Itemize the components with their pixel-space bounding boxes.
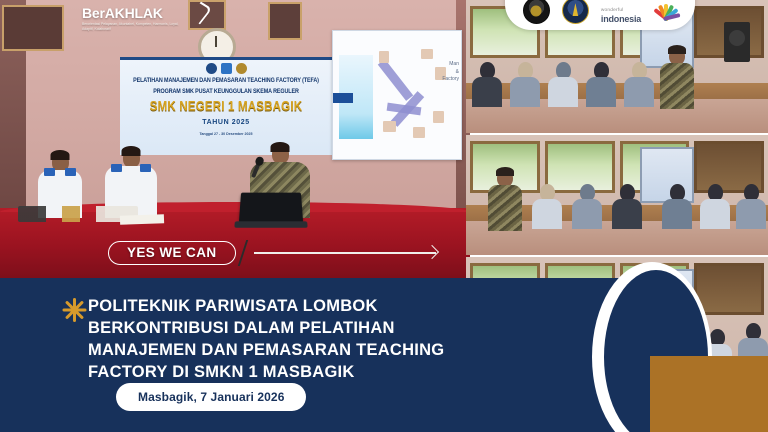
gold-accent-block: [650, 356, 768, 432]
headline-line-1: POLITEKNIK PARIWISATA LOMBOK: [88, 296, 588, 318]
banner-line-2: PROGRAM SMK PUSAT KEUNGGULAN SKEMA REGUL…: [120, 88, 332, 96]
microphone-icon: [251, 162, 261, 178]
banner-logo-province-icon: [221, 63, 232, 74]
garuda-emblem-icon: [523, 0, 550, 24]
laptop-on-table: [239, 193, 303, 223]
poster-canvas: PELATIHAN MANAJEMEN DAN PEMASARAN TEACHI…: [0, 0, 768, 432]
slide-factory-diagram: [377, 45, 449, 141]
kemendikbud-emblem-icon: [562, 0, 589, 24]
berakhlak-logo: BerAKHLAK Berorientasi Pelayanan, Akunta…: [82, 6, 202, 31]
logo-badge-bar: wonderful indonesia: [505, 0, 695, 30]
photo-panelists-main: PELATIHAN MANAJEMEN DAN PEMASARAN TEACHI…: [0, 0, 470, 278]
headline-line-2: BERKONTRIBUSI DALAM PELATIHAN: [88, 318, 588, 340]
banner-line-1: PELATIHAN MANAJEMEN DAN PEMASARAN TEACHI…: [120, 77, 332, 85]
asterisk-icon: [62, 298, 86, 322]
photo-classroom-middle-right: [466, 135, 768, 255]
berakhlak-wordmark: BerAKHLAK: [82, 6, 202, 20]
banner-logo-kemendikbud-icon: [206, 63, 217, 74]
berakhlak-tagline: Berorientasi Pelayanan, Akuntabel, Kompe…: [82, 22, 186, 31]
event-backdrop-banner: PELATIHAN MANAJEMEN DAN PEMASARAN TEACHI…: [120, 57, 332, 155]
yes-we-can-label: YES WE CAN: [108, 241, 236, 266]
banner-school-name: SMK NEGERI 1 MASBAGIK: [120, 99, 332, 113]
wall-frame-a: [2, 5, 64, 51]
wall-frame-c: [268, 2, 302, 40]
yes-we-can-ribbon: YES WE CAN: [108, 240, 436, 266]
table-papers: [120, 214, 164, 225]
date-badge: Masbagik, 7 Januari 2026: [116, 383, 306, 411]
ribbon-slash: [237, 240, 247, 266]
berakhlak-prefix: Ber: [82, 5, 105, 21]
projector-screen: Man & Factory: [332, 30, 462, 160]
banner-logo-school-icon: [236, 63, 247, 74]
banner-year: TAHUN 2025: [120, 118, 332, 126]
wonderful-indonesia-logo: wonderful indonesia: [601, 9, 641, 24]
ribbon-arrow-line: [254, 252, 436, 254]
pa-speaker-icon: [724, 22, 750, 62]
slide-tag: [332, 93, 353, 103]
banner-date-range: Tanggal 27 - 30 Desember 2025: [120, 132, 332, 136]
slide-caption: Man & Factory: [442, 61, 459, 84]
wonderful-indonesia-large-text: indonesia: [601, 15, 641, 24]
banner-logo-row: [120, 63, 332, 74]
page-title: POLITEKNIK PARIWISATA LOMBOK BERKONTRIBU…: [88, 296, 588, 384]
wonderful-indonesia-mark-icon: [655, 2, 677, 24]
headline-block: POLITEKNIK PARIWISATA LOMBOK BERKONTRIBU…: [88, 296, 588, 384]
berakhlak-suffix: AKHLAK: [105, 5, 163, 21]
headline-line-3: MANAJEMEN DAN PEMASARAN TEACHING: [88, 340, 588, 362]
headline-line-4: FACTORY DI SMKN 1 MASBAGIK: [88, 362, 588, 384]
